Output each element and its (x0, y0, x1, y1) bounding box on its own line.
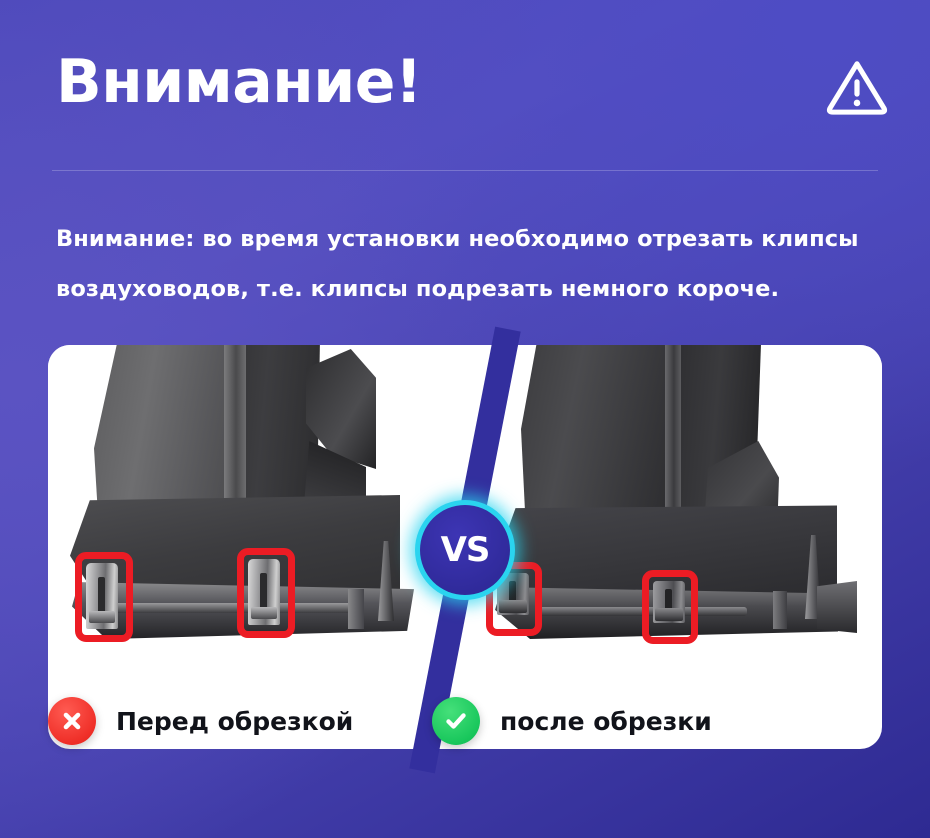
highlight-box (642, 570, 698, 644)
photo-duct-clips-trimmed (465, 345, 882, 675)
photo-duct-clips-untrimmed (48, 345, 465, 675)
cross-circle-icon (48, 697, 96, 745)
check-circle-icon (432, 697, 480, 745)
warning-triangle-icon (826, 58, 888, 116)
highlight-box (75, 552, 133, 642)
comparison-pane-before (48, 345, 465, 749)
warning-note: Внимание: во время установки необходимо … (56, 214, 886, 314)
warning-poster: Внимание! Внимание: во время установки н… (0, 0, 930, 838)
vs-badge: VS (415, 500, 515, 600)
page-title: Внимание! (56, 52, 422, 112)
caption-before-text: Перед обрезкой (116, 707, 353, 736)
header: Внимание! (0, 0, 930, 172)
vs-core: VS (420, 505, 510, 595)
vs-label: VS (441, 530, 490, 570)
caption-after-text: после обрезки (500, 707, 712, 736)
comparison-pane-after (465, 345, 882, 749)
header-divider (52, 170, 878, 171)
highlight-box (237, 548, 295, 638)
caption-after: после обрезки (432, 697, 712, 745)
caption-before: Перед обрезкой (48, 697, 353, 745)
